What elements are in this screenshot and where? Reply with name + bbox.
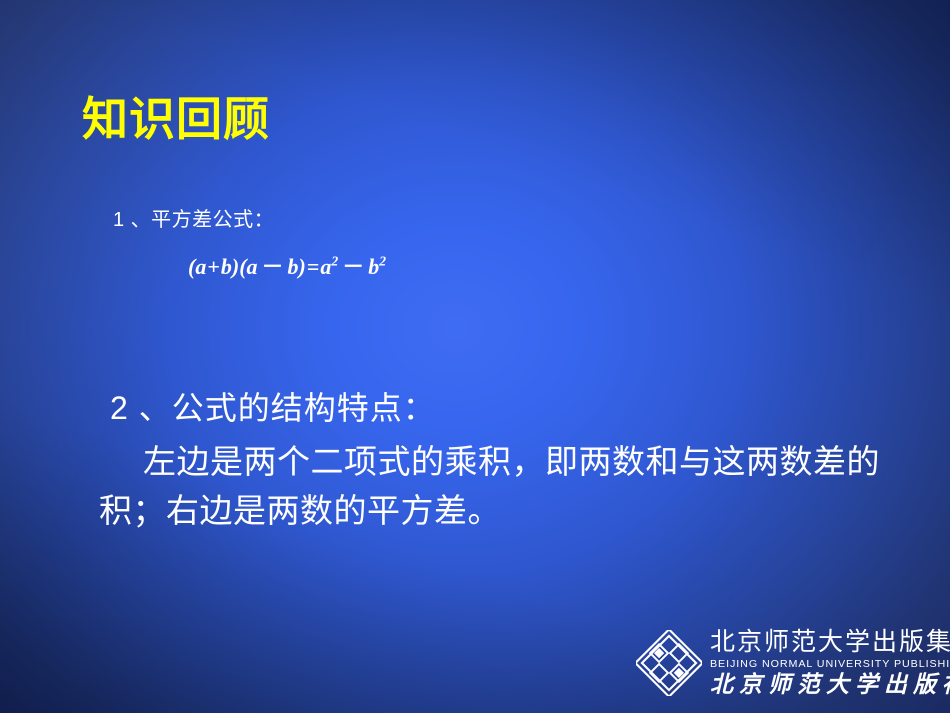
squared-difference-formula: (a+b)(a－b)=a2－b2 (188, 249, 386, 281)
formula-minus-operator-1: － (258, 254, 288, 279)
body-text-line-1: 左边是两个二项式的乘积，即两数和与 (143, 443, 713, 480)
formula-lhs-open: (a (188, 254, 206, 279)
point-2-description: 左边是两个二项式的乘积，即两数和与这两数差的积；右边是两数的平方差。 (99, 437, 889, 535)
formula-lhs-close: b) (288, 254, 306, 279)
diamond-quadrant-emblem-icon (636, 630, 702, 696)
publisher-name-english: BEIJING NORMAL UNIVERSITY PUBLISHING GRO… (710, 659, 950, 670)
formula-rhs-base-2: b (368, 254, 379, 279)
point-2-label: 2 、公式的结构特点： (110, 383, 436, 429)
publisher-name-chinese-group: 北京师范大学出版集团 (710, 630, 950, 655)
formula-plus-operator: + (206, 254, 221, 279)
publisher-logo: 北京师范大学出版集团 BEIJING NORMAL UNIVERSITY PUB… (636, 620, 946, 706)
formula-lhs-mid: b)(a (221, 254, 258, 279)
page-title: 知识回顾 (82, 94, 270, 145)
formula-minus-operator-2: － (338, 254, 368, 279)
publisher-logo-text: 北京师范大学出版集团 BEIJING NORMAL UNIVERSITY PUB… (710, 630, 950, 697)
presentation-slide: 知识回顾 1 、平方差公式： (a+b)(a－b)=a2－b2 2 、公式的结构… (0, 0, 950, 713)
formula-rhs-base-1: a (320, 254, 331, 279)
formula-rhs-exponent-2: 2 (379, 254, 386, 269)
publisher-name-chinese-press: 北京师范大学出版社 (710, 673, 950, 696)
point-1-label: 1 、平方差公式： (113, 203, 274, 232)
formula-equals-operator: = (306, 254, 321, 279)
